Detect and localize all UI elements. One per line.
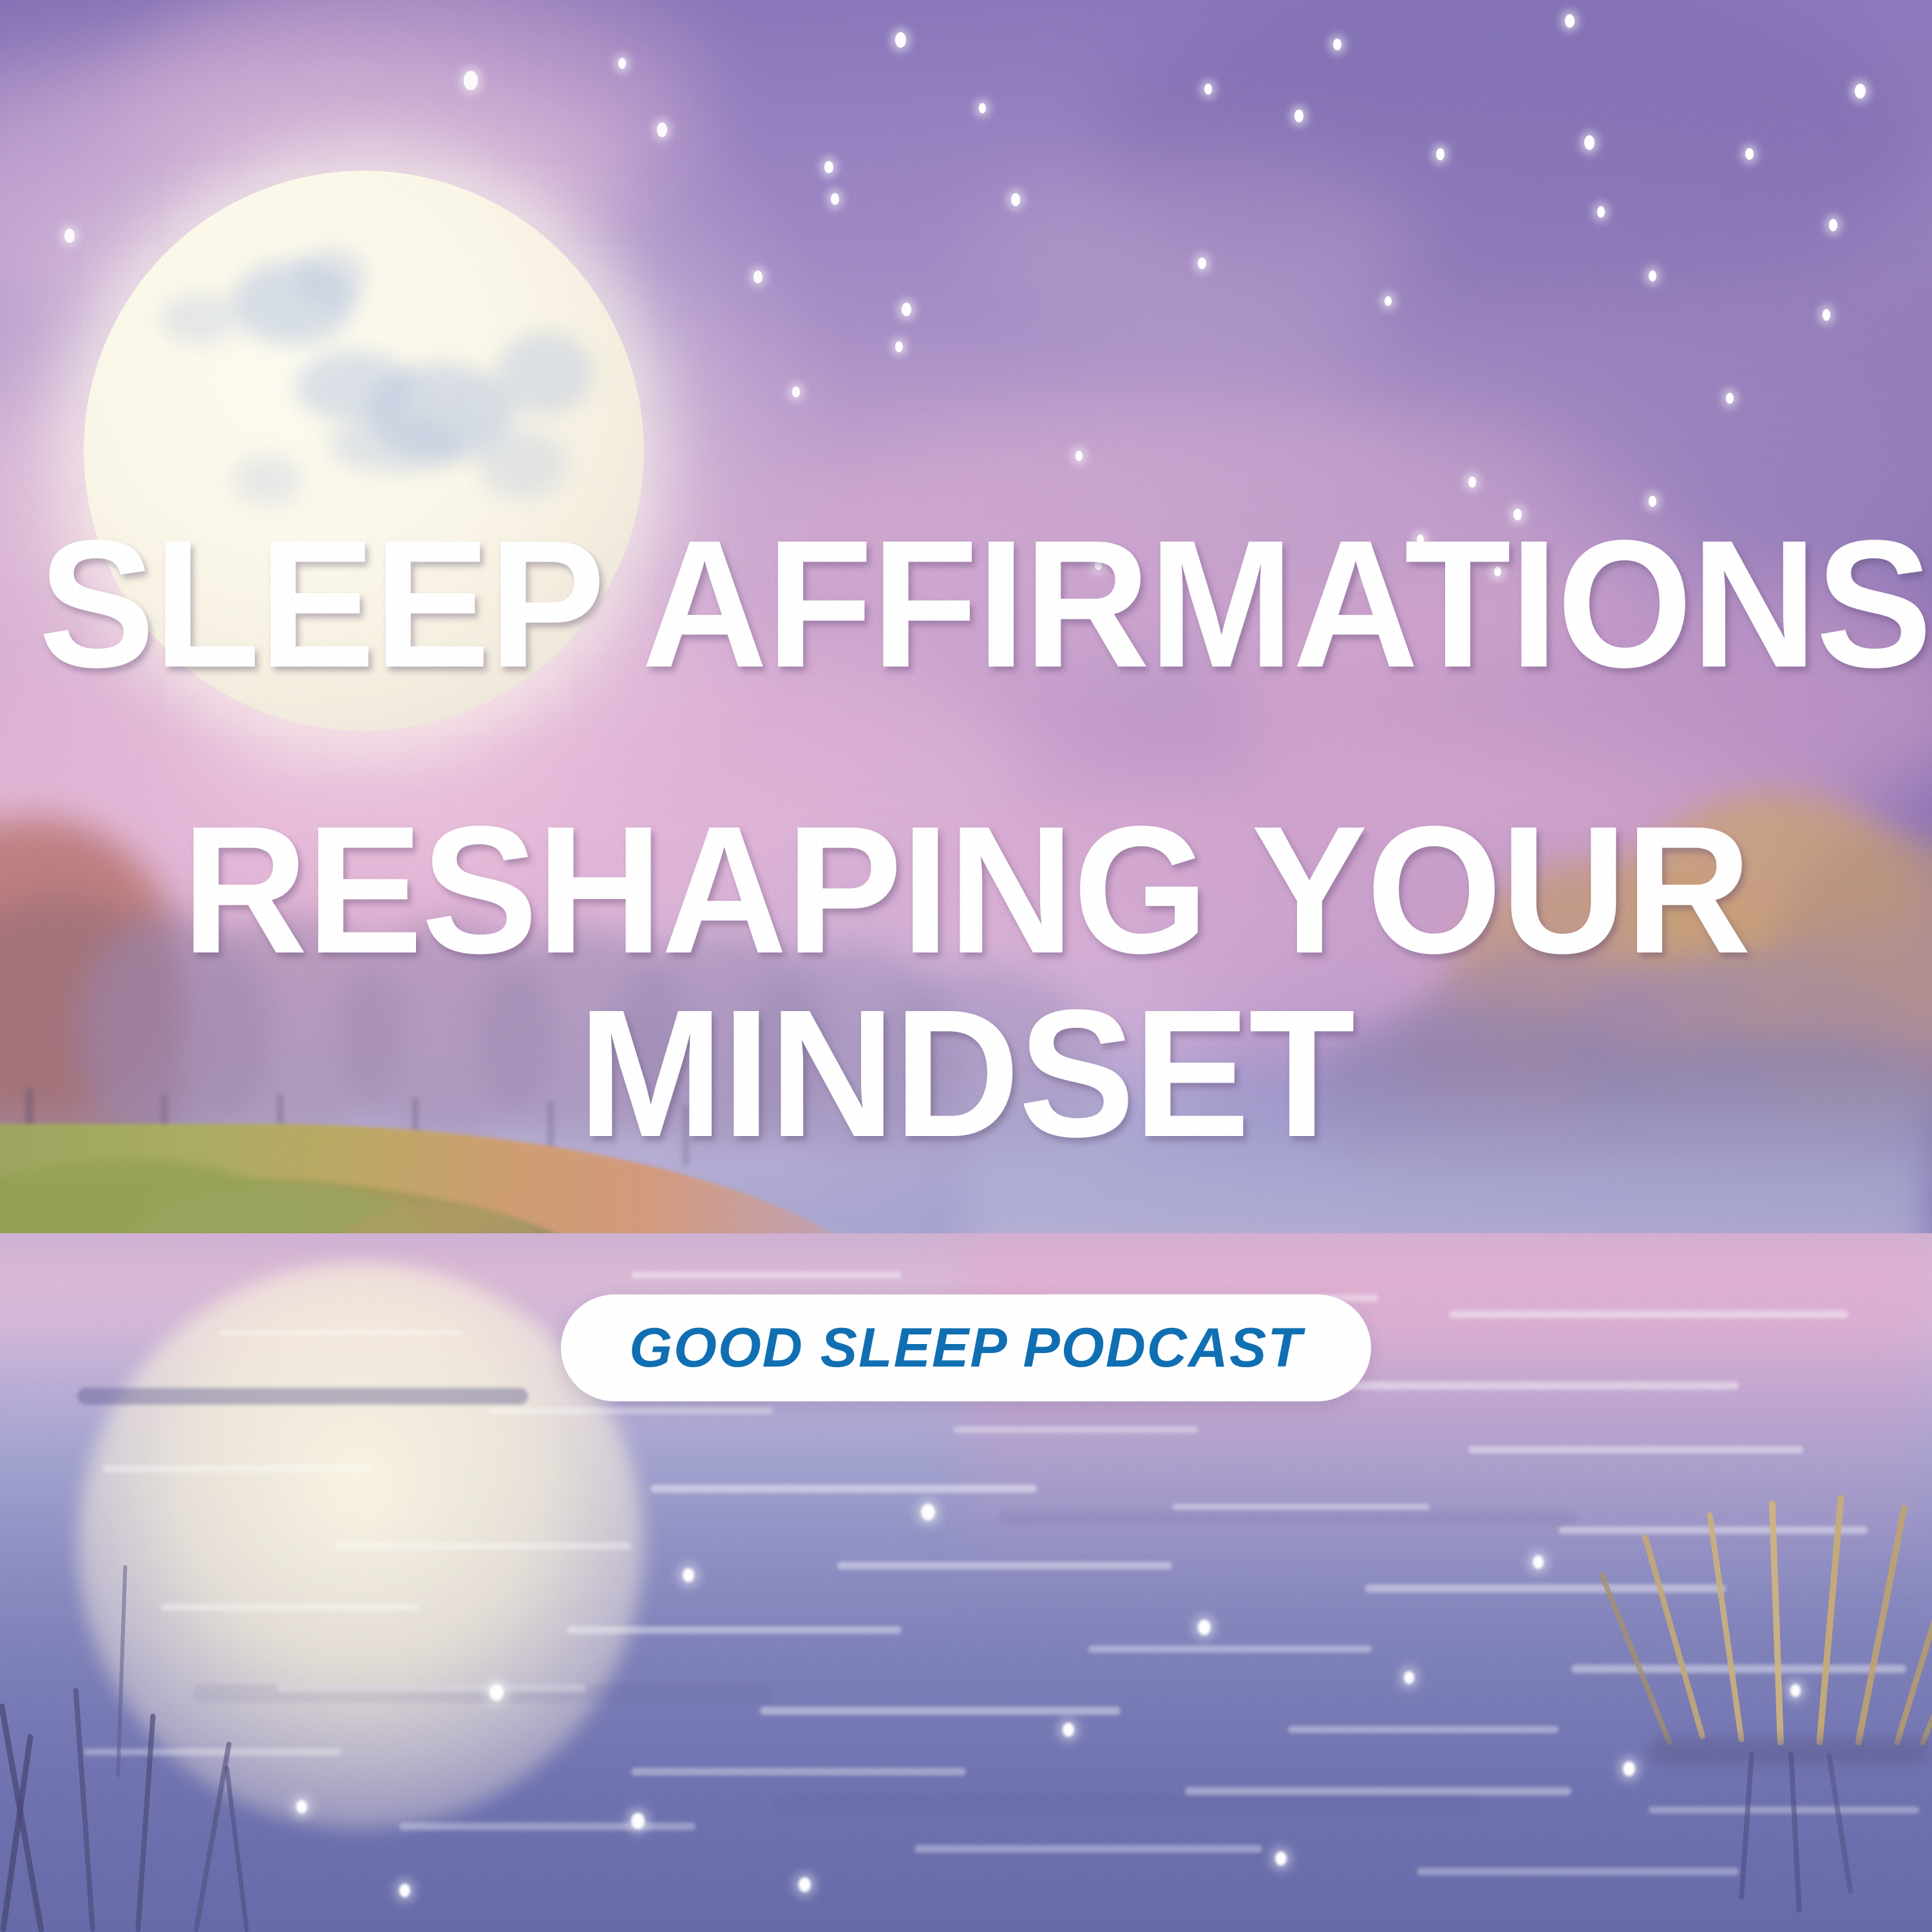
podcast-cover-art: SLEEP AFFIRMATIONS: RESHAPING YOUR MINDS… — [0, 0, 1932, 1932]
podcast-name-label: GOOD SLEEP PODCAST — [629, 1316, 1303, 1380]
reeds-bottom-left — [0, 0, 1932, 1932]
podcast-name-badge[interactable]: GOOD SLEEP PODCAST — [561, 1294, 1371, 1401]
